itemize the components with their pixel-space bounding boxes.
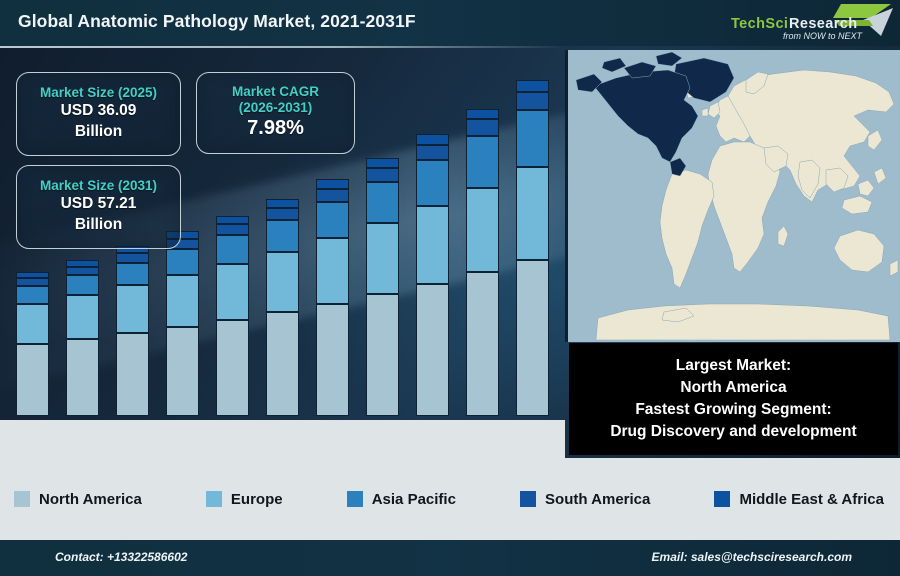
stat-value-line2: Billion: [75, 215, 122, 236]
bar-segment: [266, 220, 299, 252]
stacked-bar: [266, 199, 299, 416]
world-map: [565, 50, 900, 342]
legend-swatch-icon: [714, 491, 730, 507]
bar-segment: [216, 224, 249, 236]
legend-label: Asia Pacific: [372, 491, 456, 508]
stat-value-line1: USD 36.09: [61, 101, 137, 122]
bar-column: [457, 68, 507, 416]
bar-segment: [166, 327, 199, 416]
svg-text:TechSci: TechSci: [731, 16, 788, 32]
header-bar: Global Anatomic Pathology Market, 2021-2…: [0, 0, 900, 46]
bar-segment: [66, 339, 99, 416]
legend-item-north-america[interactable]: North America: [14, 491, 142, 508]
bar-segment: [316, 202, 349, 238]
stat-label-line2: (2026-2031): [239, 100, 313, 116]
bar-segment: [316, 179, 349, 188]
callout-line-3: Fastest Growing Segment:: [635, 399, 831, 421]
bar-segment: [316, 189, 349, 202]
svg-text:from NOW to NEXT: from NOW to NEXT: [783, 31, 864, 41]
bar-segment: [266, 312, 299, 416]
stacked-bar: [16, 272, 49, 416]
bar-segment: [266, 199, 299, 208]
bar-segment: [466, 109, 499, 120]
stacked-bar: [216, 216, 249, 416]
bar-segment: [116, 285, 149, 333]
bar-segment: [16, 278, 49, 286]
bar-segment: [116, 333, 149, 416]
bar-segment: [466, 188, 499, 273]
bar-segment: [466, 272, 499, 416]
callout-line-2: North America: [680, 377, 786, 399]
legend-item-middle-east-africa[interactable]: Middle East & Africa: [714, 491, 883, 508]
bar-segment: [366, 168, 399, 182]
stacked-bar: [416, 134, 449, 416]
stacked-bar: [516, 80, 549, 416]
bar-segment: [66, 275, 99, 295]
bar-column: [357, 68, 407, 416]
bar-column: [507, 68, 557, 416]
x-axis-strip: [0, 420, 565, 458]
stat-box-market-size-2031: Market Size (2031) USD 57.21 Billion: [16, 165, 181, 249]
stat-label: Market Size (2025): [40, 85, 157, 101]
bar-segment: [416, 134, 449, 144]
stacked-bar: [316, 179, 349, 416]
bar-segment: [466, 119, 499, 136]
bar-column: [407, 68, 457, 416]
callout-line-4: Drug Discovery and development: [610, 421, 856, 443]
bar-segment: [66, 267, 99, 276]
bar-segment: [216, 216, 249, 224]
bar-segment: [466, 136, 499, 187]
bar-segment: [216, 235, 249, 263]
bar-segment: [266, 208, 299, 220]
stacked-bar: [366, 158, 399, 416]
stat-box-market-cagr: Market CAGR (2026-2031) 7.98%: [196, 72, 355, 154]
bar-segment: [116, 253, 149, 262]
bar-segment: [416, 284, 449, 416]
legend-swatch-icon: [347, 491, 363, 507]
bar-segment: [366, 182, 399, 222]
bar-segment: [416, 160, 449, 206]
legend-label: South America: [545, 491, 650, 508]
legend-swatch-icon: [206, 491, 222, 507]
bar-segment: [516, 260, 549, 416]
bar-segment: [16, 286, 49, 304]
bar-segment: [66, 295, 99, 339]
bar-segment: [16, 344, 49, 416]
stacked-bar: [66, 260, 99, 416]
callout-box: Largest Market: North America Fastest Gr…: [569, 343, 898, 455]
legend-label: North America: [39, 491, 142, 508]
techsci-research-logo: TechSci Research from NOW to NEXT: [723, 2, 895, 44]
stat-value-cagr: 7.98%: [247, 115, 304, 142]
stat-label: Market Size (2031): [40, 178, 157, 194]
stat-box-market-size-2025: Market Size (2025) USD 36.09 Billion: [16, 72, 181, 156]
bar-segment: [266, 252, 299, 313]
callout-line-1: Largest Market:: [676, 355, 791, 377]
footer-email: Email: sales@techsciresearch.com: [652, 550, 852, 564]
bar-segment: [366, 158, 399, 168]
bar-segment: [516, 110, 549, 168]
legend-item-asia-pacific[interactable]: Asia Pacific: [347, 491, 456, 508]
bar-segment: [216, 264, 249, 320]
bar-segment: [516, 167, 549, 260]
bar-segment: [516, 92, 549, 110]
bar-segment: [366, 294, 399, 416]
bar-segment: [166, 249, 199, 274]
bar-segment: [166, 275, 199, 327]
legend-label: Europe: [231, 491, 283, 508]
stacked-bar: [116, 246, 149, 416]
infographic-root: Global Anatomic Pathology Market, 2021-2…: [0, 0, 900, 576]
bar-segment: [16, 304, 49, 344]
bar-segment: [316, 238, 349, 304]
stat-label-line1: Market CAGR: [232, 84, 319, 100]
bar-segment: [216, 320, 249, 416]
stat-value-line1: USD 57.21: [61, 194, 137, 215]
bar-segment: [366, 223, 399, 295]
stacked-bar: [166, 231, 199, 416]
bar-segment: [516, 80, 549, 92]
footer-bar: Contact: +13322586602 Email: sales@techs…: [0, 540, 900, 576]
legend-item-south-america[interactable]: South America: [520, 491, 650, 508]
bar-segment: [416, 206, 449, 284]
legend-item-europe[interactable]: Europe: [206, 491, 283, 508]
bar-segment: [316, 304, 349, 417]
chart-legend: North AmericaEuropeAsia PacificSouth Ame…: [0, 458, 900, 540]
svg-text:Research: Research: [789, 16, 858, 32]
page-title: Global Anatomic Pathology Market, 2021-2…: [18, 11, 416, 32]
bar-segment: [116, 263, 149, 286]
stacked-bar: [466, 108, 499, 416]
legend-label: Middle East & Africa: [739, 491, 883, 508]
footer-contact: Contact: +13322586602: [55, 550, 187, 564]
panel-top-divider: [0, 46, 565, 48]
stat-value-line2: Billion: [75, 122, 122, 143]
legend-swatch-icon: [14, 491, 30, 507]
legend-swatch-icon: [520, 491, 536, 507]
bar-segment: [416, 145, 449, 161]
